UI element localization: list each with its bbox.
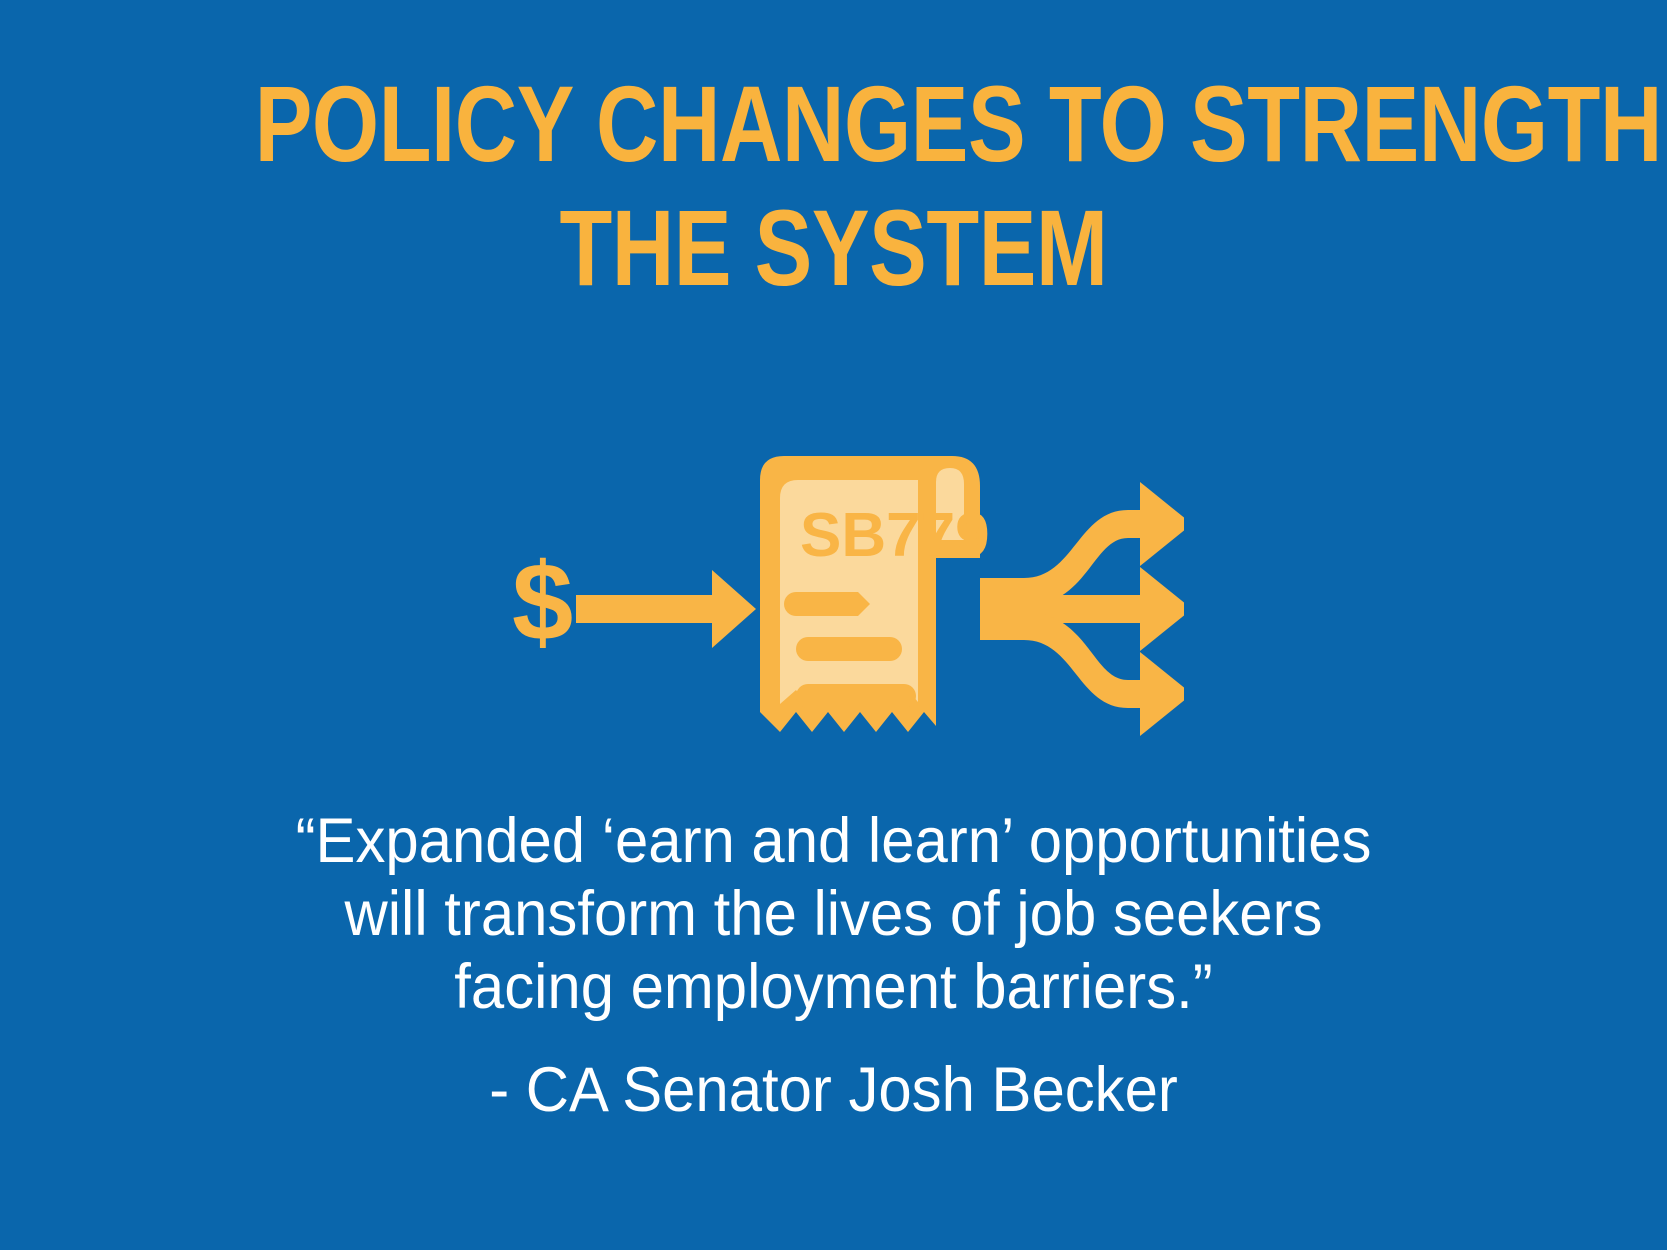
quote-line-1: “Expanded ‘earn and learn’ opportunities xyxy=(137,805,1531,878)
receipt-bill-number: SB779 xyxy=(800,501,990,570)
title-line-2: THE SYSTEM xyxy=(255,186,1413,310)
svg-text:$: $ xyxy=(512,541,573,664)
quote-block: “Expanded ‘earn and learn’ opportunities… xyxy=(0,805,1667,1127)
dollar-sign-icon: $ xyxy=(512,541,573,664)
quote-attribution: - CA Senator Josh Becker xyxy=(137,1054,1531,1127)
arrow-right-icon xyxy=(576,570,756,648)
receipt-text-line-2 xyxy=(796,637,902,661)
quote-line-2: will transform the lives of job seekers xyxy=(137,878,1531,951)
bill-funding-illustration: $ SB779 xyxy=(0,430,1667,780)
receipt-text-line-3 xyxy=(796,684,916,708)
quote-line-3: facing employment barriers.” xyxy=(137,951,1531,1024)
slide-root: POLICY CHANGES TO STRENGTHEN THE SYSTEM … xyxy=(0,0,1667,1250)
receipt-text-line-1 xyxy=(784,592,870,616)
illustration-svg: $ SB779 xyxy=(484,440,1184,770)
title-line-1: POLICY CHANGES TO STRENGTHEN xyxy=(255,62,1413,186)
receipt-document-icon: SB779 xyxy=(760,456,990,732)
page-title: POLICY CHANGES TO STRENGTHEN THE SYSTEM xyxy=(0,62,1667,310)
